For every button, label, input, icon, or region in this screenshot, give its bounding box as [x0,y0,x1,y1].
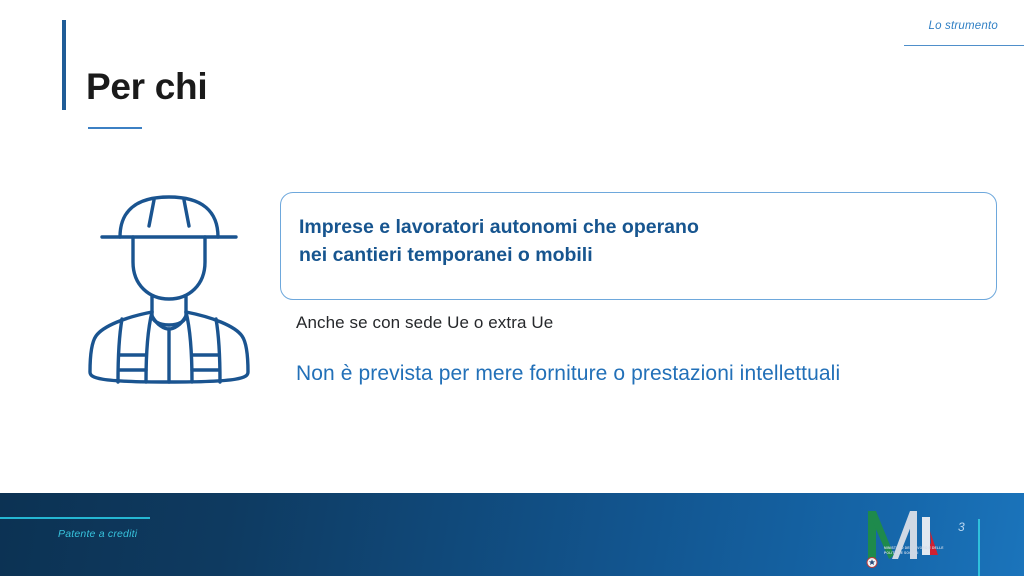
footer-tick-mark [978,519,980,576]
callout-text: Imprese e lavoratori autonomi che operan… [299,213,699,270]
section-label: Lo strumento [928,20,998,32]
callout-box: Imprese e lavoratori autonomi che operan… [280,192,997,300]
title-accent-bar [62,20,66,110]
page-title: Per chi [86,68,207,105]
construction-worker-icon [86,186,252,390]
note-line: Anche se con sede Ue o extra Ue [296,313,553,333]
highlight-line: Non è prevista per mere forniture o pres… [296,362,840,386]
slide-footer: Patente a crediti Ministero del Lavo [0,493,1024,576]
slide-canvas: Lo strumento Per chi [0,0,1024,576]
page-number: 3 [958,520,965,534]
footer-label: Patente a crediti [58,528,137,540]
ministry-logo [864,501,950,569]
ministry-logo-subtitle: Ministero del Lavoro e delle Politiche S… [884,546,948,556]
title-underline [88,127,142,129]
section-label-rule [904,45,1024,46]
footer-accent-rule [0,517,150,519]
